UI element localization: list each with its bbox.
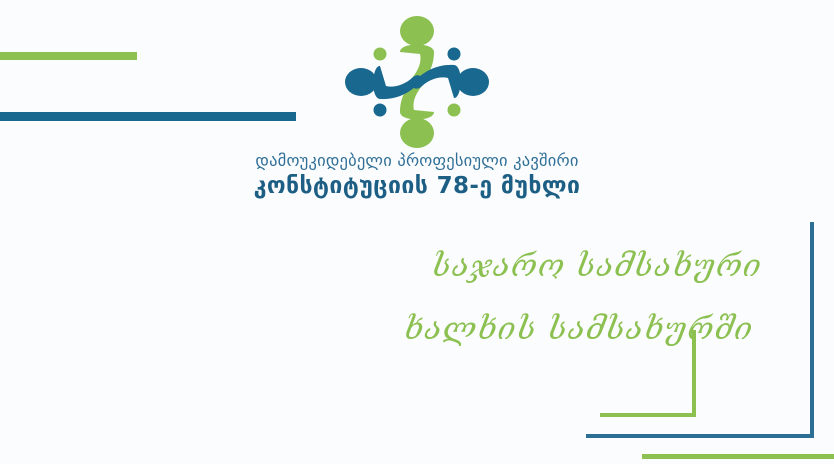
green-corner-frame-vertical xyxy=(692,330,696,417)
union-logo-icon xyxy=(342,12,492,152)
blue-corner-frame-vertical xyxy=(810,222,814,438)
slogan-line-2: ხალხის სამსახურში xyxy=(402,311,755,347)
logo xyxy=(0,12,834,152)
organization-line-1: დამოუკიდებელი პროფესიული კავშირი xyxy=(0,150,834,172)
organization-name: დამოუკიდებელი პროფესიული კავშირი კონსტიტ… xyxy=(0,150,834,200)
green-corner-frame-horizontal xyxy=(600,413,696,417)
blue-corner-frame-horizontal xyxy=(586,434,814,438)
title-slide: დამოუკიდებელი პროფესიული კავშირი კონსტიტ… xyxy=(0,0,834,464)
green-bottom-rule xyxy=(642,454,834,459)
organization-line-2: კონსტიტუციის 78-ე მუხლი xyxy=(0,172,834,200)
slogan-line-1: საჯარო სამსახური xyxy=(430,248,764,284)
